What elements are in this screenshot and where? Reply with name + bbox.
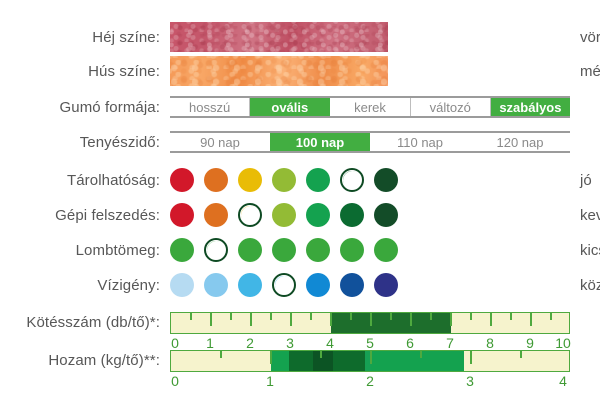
foliage-mass-dot-2[interactable] xyxy=(238,238,262,262)
tuber-count-major-tick-4 xyxy=(330,313,332,326)
storability-dot-4[interactable] xyxy=(306,168,330,192)
skin-swatch-texture xyxy=(170,22,388,52)
yield-tick-labels: 01234 xyxy=(170,372,570,392)
tuber-count-tick-label-6: 6 xyxy=(406,335,414,351)
storability-dot-fill-3 xyxy=(272,168,296,192)
field-foliage-mass xyxy=(170,233,570,267)
water-demand-dot-2[interactable] xyxy=(238,273,262,297)
tuber-count-tick-label-10: 10 xyxy=(555,335,571,351)
tuber-count-minor-tick-9 xyxy=(550,313,552,320)
tuber-count-minor-tick-2 xyxy=(270,313,272,320)
yield-minor-tick-0 xyxy=(220,351,222,358)
field-yield: 01234 xyxy=(170,350,570,394)
machine-harvest-dot-1[interactable] xyxy=(204,203,228,227)
yield-minor-tick-2 xyxy=(420,351,422,358)
storability-dot-fill-4 xyxy=(306,168,330,192)
machine-harvest-dot-6[interactable] xyxy=(374,203,398,227)
yield-tick-label-3: 3 xyxy=(466,373,474,389)
verdict-foliage-mass: kicsi xyxy=(580,233,600,267)
flesh-colour-swatch xyxy=(170,56,388,86)
water-demand-dot-3-selected[interactable] xyxy=(272,273,296,297)
flesh-swatch-texture xyxy=(170,56,388,86)
tuber-count-tick-label-7: 7 xyxy=(446,335,454,351)
tuber-count-tick-label-8: 8 xyxy=(486,335,494,351)
foliage-mass-dot-4[interactable] xyxy=(306,238,330,262)
growing-season-segmented-bar[interactable]: 90 nap100 nap110 nap120 nap xyxy=(170,131,570,153)
water-demand-dot-fill-6 xyxy=(374,273,398,297)
yield-minor-tick-1 xyxy=(320,351,322,358)
tuber-count-minor-tick-3 xyxy=(310,313,312,320)
row-label-growing-season: Tenyészidő: xyxy=(0,134,170,151)
foliage-mass-dot-1-selected[interactable] xyxy=(204,238,228,262)
verdict-skin-colour: vöröses xyxy=(580,20,600,54)
row-storability: Tárolhatóság: xyxy=(0,163,600,197)
machine-harvest-dot-3[interactable] xyxy=(272,203,296,227)
verdict-machine-harvest: kevésbé alkalmas xyxy=(580,198,600,232)
yield-major-tick-3 xyxy=(470,351,472,364)
verdict-flesh-colour: mély narancssárga xyxy=(580,54,600,88)
tuber-shape-option-2[interactable]: kerek xyxy=(330,98,410,116)
tuber-count-fill-segment-1 xyxy=(359,313,399,333)
machine-harvest-dot-fill-0 xyxy=(170,203,194,227)
tuber-count-major-tick-5 xyxy=(370,313,372,326)
foliage-mass-dot-0[interactable] xyxy=(170,238,194,262)
machine-harvest-dot-fill-5 xyxy=(340,203,364,227)
tuber-count-minor-tick-4 xyxy=(350,313,352,320)
storability-dot-1[interactable] xyxy=(204,168,228,192)
storability-dot-scale[interactable] xyxy=(170,163,398,197)
tuber-count-major-tick-6 xyxy=(410,313,412,326)
water-demand-dot-4[interactable] xyxy=(306,273,330,297)
tuber-count-minor-tick-1 xyxy=(230,313,232,320)
verdict-water-demand: közepes xyxy=(580,268,600,302)
tuber-count-major-tick-1 xyxy=(210,313,212,326)
tuber-count-major-tick-2 xyxy=(250,313,252,326)
storability-dot-fill-0 xyxy=(170,168,194,192)
row-label-machine-harvest: Gépi felszedés: xyxy=(0,207,170,224)
water-demand-dot-5[interactable] xyxy=(340,273,364,297)
field-flesh-colour xyxy=(170,54,570,88)
foliage-mass-dot-fill-4 xyxy=(306,238,330,262)
field-skin-colour xyxy=(170,20,570,54)
row-label-skin-colour: Héj színe: xyxy=(0,29,170,46)
storability-dot-2[interactable] xyxy=(238,168,262,192)
yield-tick-label-0: 0 xyxy=(171,373,179,389)
water-demand-dot-scale[interactable] xyxy=(170,268,398,302)
storability-dot-0[interactable] xyxy=(170,168,194,192)
row-label-tuber-shape: Gumó formája: xyxy=(0,99,170,116)
row-tuber-shape: Gumó formája: hosszúováliskerekváltozósz… xyxy=(0,90,600,124)
yield-fill-segment-2 xyxy=(313,351,333,371)
yield-major-tick-2 xyxy=(370,351,372,364)
row-water-demand: Vízigény: xyxy=(0,268,600,302)
tuber-shape-option-3[interactable]: változó xyxy=(411,98,491,116)
tuber-count-minor-tick-5 xyxy=(390,313,392,320)
row-label-foliage-mass: Lombtömeg: xyxy=(0,242,170,259)
foliage-mass-dot-3[interactable] xyxy=(272,238,296,262)
tuber-count-major-tick-3 xyxy=(290,313,292,326)
machine-harvest-dot-2-selected[interactable] xyxy=(238,203,262,227)
skin-colour-swatch xyxy=(170,22,388,52)
row-label-water-demand: Vízigény: xyxy=(0,277,170,294)
tuber-count-major-tick-7 xyxy=(450,313,452,326)
tuber-count-minor-tick-0 xyxy=(190,313,192,320)
row-yield: Hozam (kg/tő)**: 01234 xyxy=(0,350,600,394)
water-demand-dot-fill-2 xyxy=(238,273,262,297)
growing-season-option-0[interactable]: 90 nap xyxy=(170,133,270,151)
row-growing-season: Tenyészidő: 90 nap100 nap110 nap120 nap xyxy=(0,125,600,159)
tuber-count-tick-label-4: 4 xyxy=(326,335,334,351)
yield-tick-label-1: 1 xyxy=(266,373,274,389)
machine-harvest-dot-fill-4 xyxy=(306,203,330,227)
row-label-tuber-count: Kötésszám (db/tő)*: xyxy=(0,312,170,334)
tuber-shape-option-0[interactable]: hosszú xyxy=(170,98,250,116)
foliage-mass-dot-scale[interactable] xyxy=(170,233,398,267)
yield-tick-label-4: 4 xyxy=(559,373,567,389)
storability-dot-6[interactable] xyxy=(374,168,398,192)
row-label-storability: Tárolhatóság: xyxy=(0,172,170,189)
yield-fill-segment-5 xyxy=(371,351,464,371)
field-water-demand xyxy=(170,268,570,302)
tuber-count-track xyxy=(170,312,570,334)
field-storability xyxy=(170,163,570,197)
water-demand-dot-fill-0 xyxy=(170,273,194,297)
tuber-count-major-tick-9 xyxy=(530,313,532,326)
row-label-flesh-colour: Hús színe: xyxy=(0,63,170,80)
yield-minor-tick-3 xyxy=(520,351,522,358)
foliage-mass-dot-5[interactable] xyxy=(340,238,364,262)
tuber-count-tick-label-0: 0 xyxy=(171,335,179,351)
tuber-shape-option-4[interactable]: szabályos xyxy=(491,98,570,116)
foliage-mass-dot-fill-3 xyxy=(272,238,296,262)
yield-fill-segment-1 xyxy=(289,351,313,371)
water-demand-dot-fill-1 xyxy=(204,273,228,297)
tuber-count-tick-label-5: 5 xyxy=(366,335,374,351)
storability-dot-fill-6 xyxy=(374,168,398,192)
foliage-mass-dot-fill-5 xyxy=(340,238,364,262)
row-foliage-mass: Lombtömeg: xyxy=(0,233,600,267)
water-demand-dot-0[interactable] xyxy=(170,273,194,297)
machine-harvest-dot-scale[interactable] xyxy=(170,198,398,232)
growing-season-option-3[interactable]: 120 nap xyxy=(470,133,570,151)
foliage-mass-dot-6[interactable] xyxy=(374,238,398,262)
machine-harvest-dot-5[interactable] xyxy=(340,203,364,227)
row-machine-harvest: Gépi felszedés: xyxy=(0,198,600,232)
field-machine-harvest xyxy=(170,198,570,232)
verdict-storability: jó xyxy=(580,163,592,197)
row-label-yield: Hozam (kg/tő)**: xyxy=(0,350,170,372)
storability-dot-fill-2 xyxy=(238,168,262,192)
yield-scale-chart: 01234 xyxy=(170,350,570,394)
machine-harvest-dot-fill-6 xyxy=(374,203,398,227)
tuber-count-major-tick-8 xyxy=(490,313,492,326)
storability-dot-3[interactable] xyxy=(272,168,296,192)
tuber-count-minor-tick-8 xyxy=(510,313,512,320)
tuber-count-minor-tick-6 xyxy=(430,313,432,320)
machine-harvest-dot-fill-3 xyxy=(272,203,296,227)
field-tuber-shape: hosszúováliskerekváltozószabályos xyxy=(170,90,570,124)
tuber-count-tick-label-3: 3 xyxy=(286,335,294,351)
variety-profile-panel: Héj színe: vöröses Hús színe: mély naran… xyxy=(0,0,600,402)
machine-harvest-dot-0[interactable] xyxy=(170,203,194,227)
storability-dot-5-selected[interactable] xyxy=(340,168,364,192)
water-demand-dot-fill-4 xyxy=(306,273,330,297)
tuber-count-tick-label-1: 1 xyxy=(206,335,214,351)
foliage-mass-dot-fill-6 xyxy=(374,238,398,262)
growing-season-option-2[interactable]: 110 nap xyxy=(370,133,470,151)
foliage-mass-dot-fill-0 xyxy=(170,238,194,262)
tuber-shape-option-1[interactable]: ovális xyxy=(250,98,330,116)
tuber-count-tick-label-2: 2 xyxy=(246,335,254,351)
tuber-count-fill-segment-0 xyxy=(331,313,359,333)
tuber-count-minor-tick-7 xyxy=(470,313,472,320)
yield-track xyxy=(170,350,570,372)
storability-dot-fill-1 xyxy=(204,168,228,192)
machine-harvest-dot-4[interactable] xyxy=(306,203,330,227)
water-demand-dot-6[interactable] xyxy=(374,273,398,297)
foliage-mass-dot-fill-2 xyxy=(238,238,262,262)
yield-tick-label-2: 2 xyxy=(366,373,374,389)
row-skin-colour: Héj színe: xyxy=(0,20,600,54)
water-demand-dot-fill-3 xyxy=(275,276,293,294)
foliage-mass-dot-fill-1 xyxy=(207,241,225,259)
machine-harvest-dot-fill-2 xyxy=(241,206,259,224)
tuber-shape-segmented-bar[interactable]: hosszúováliskerekváltozószabályos xyxy=(170,96,570,118)
yield-major-tick-1 xyxy=(270,351,272,364)
growing-season-option-1[interactable]: 100 nap xyxy=(270,133,370,151)
storability-dot-fill-5 xyxy=(343,171,361,189)
tuber-count-tick-label-9: 9 xyxy=(526,335,534,351)
water-demand-dot-1[interactable] xyxy=(204,273,228,297)
field-growing-season: 90 nap100 nap110 nap120 nap xyxy=(170,125,570,159)
yield-fill-segment-0 xyxy=(271,351,289,371)
water-demand-dot-fill-5 xyxy=(340,273,364,297)
yield-fill-segment-3 xyxy=(333,351,365,371)
row-flesh-colour: Hús színe: xyxy=(0,54,600,88)
tuber-count-fill-segment-2 xyxy=(399,313,451,333)
machine-harvest-dot-fill-1 xyxy=(204,203,228,227)
